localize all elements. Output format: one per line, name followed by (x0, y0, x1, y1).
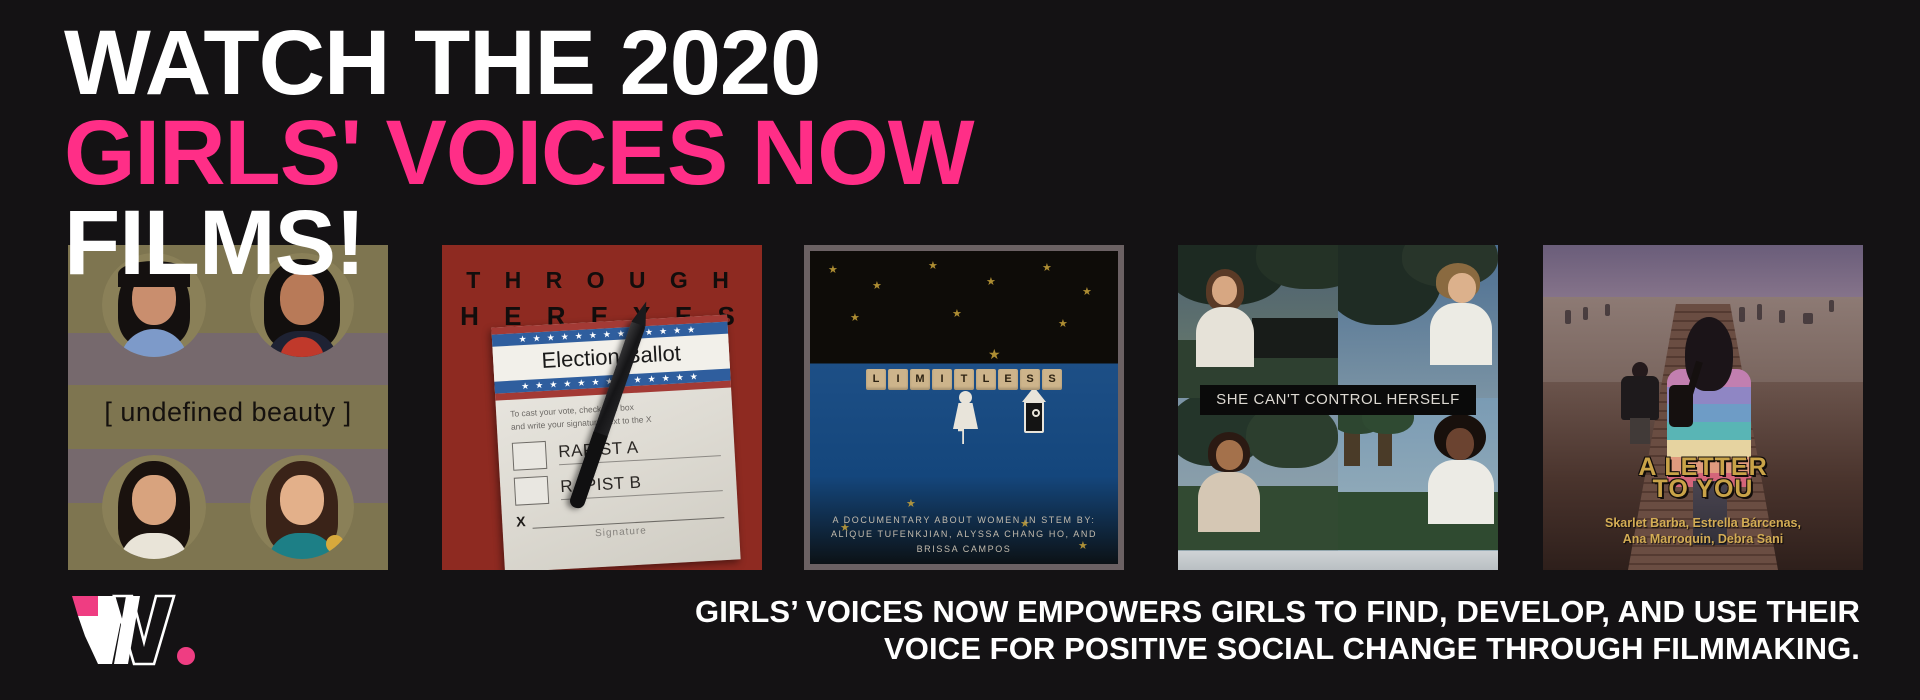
caption-line-1: A DOCUMENTARY ABOUT WOMEN IN STEM BY: (810, 513, 1118, 527)
sky (1543, 245, 1863, 297)
footer: GIRLS’ VOICES NOW EMPOWERS GIRLS TO FIND… (0, 580, 1920, 700)
tagline: GIRLS’ VOICES NOW EMPOWERS GIRLS TO FIND… (280, 594, 1860, 667)
video-quadrant (1178, 398, 1338, 551)
paper-girl-figure (950, 391, 980, 443)
poster-artwork: SHE CAN'T CONTROL HERSELF (1178, 245, 1498, 570)
poster-limitless[interactable]: ★ ★ ★ ★ ★ ★ ★ ★ ★ ★ ★ ★ ★ ★ (804, 245, 1124, 570)
scrabble-tile: I (888, 369, 908, 390)
promo-banner: WATCH THE 2020 GIRLS' VOICES NOW FILMS! (0, 0, 1920, 700)
credits-line-1: Skarlet Barba, Estrella Bárcenas, (1543, 515, 1863, 531)
video-quadrant (1178, 245, 1338, 398)
poster-artwork: A LETTER TO YOU Skarlet Barba, Estrella … (1543, 245, 1863, 570)
credits-line-2: Ana Marroquin, Debra Sani (1543, 531, 1863, 547)
scrabble-tile: I (932, 369, 952, 390)
subtitle-text: SHE CAN'T CONTROL HERSELF (1216, 391, 1460, 408)
scrabble-tile: L (866, 369, 886, 390)
subtitle-band: SHE CAN'T CONTROL HERSELF (1200, 385, 1476, 415)
avatar (102, 455, 206, 559)
headline-line-1: WATCH THE 2020 (64, 18, 974, 108)
background-walker (1621, 362, 1659, 444)
caption-line-3: BRISSA CAMPOS (810, 542, 1118, 556)
vn-monogram-icon (68, 590, 218, 670)
poster-inner: ★ ★ ★ ★ ★ ★ ★ ★ ★ ★ ★ ★ ★ ★ (810, 251, 1118, 564)
avatar (250, 455, 354, 559)
ballot-checkbox[interactable] (514, 475, 550, 505)
poster-title: A LETTER TO YOU (1543, 453, 1863, 504)
scrabble-tile: M (910, 369, 930, 390)
shoulder-bag (1669, 385, 1693, 427)
video-quadrant (1338, 245, 1498, 398)
caption-line-2: ALIQUE TUFENKJIAN, ALYSSA CHANG HO, AND (810, 527, 1118, 541)
video-quadrant (1338, 398, 1498, 551)
headline-line-2: GIRLS' VOICES NOW (64, 108, 974, 198)
scrabble-tile: L (976, 369, 996, 390)
poster-artwork: ★ ★ ★ ★ ★ ★ ★ ★ ★ ★ ★ ★ ★ ★ (804, 245, 1124, 570)
scrabble-title-tiles: LIMITLESS (810, 369, 1118, 390)
rocket-icon (1022, 387, 1046, 433)
poster-she-cant-control-herself[interactable]: SHE CAN'T CONTROL HERSELF (1178, 245, 1498, 570)
signature-mark: X (516, 513, 526, 529)
girls-voices-now-logo[interactable] (68, 590, 218, 670)
headline: WATCH THE 2020 GIRLS' VOICES NOW FILMS! (64, 18, 974, 288)
headline-line-3: FILMS! (64, 198, 974, 288)
poster-title: [ undefined beauty ] (68, 397, 388, 428)
election-ballot: ★★★★★★★★★★★★★ Election Ballot ★★★★★★★★★★… (491, 315, 740, 570)
tagline-line-1: GIRLS’ VOICES NOW EMPOWERS GIRLS TO FIND… (280, 594, 1860, 631)
tagline-line-2: VOICE FOR POSITIVE SOCIAL CHANGE THROUGH… (280, 631, 1860, 668)
scrabble-tile: T (954, 369, 974, 390)
ballot-checkbox[interactable] (512, 440, 548, 470)
scrabble-tile: E (998, 369, 1018, 390)
poster-caption: A DOCUMENTARY ABOUT WOMEN IN STEM BY: AL… (810, 513, 1118, 556)
poster-credits: Skarlet Barba, Estrella Bárcenas, Ana Ma… (1543, 515, 1863, 547)
poster-title-line-2: TO YOU (1543, 475, 1863, 504)
poster-row: [ undefined beauty ] (0, 245, 1920, 575)
scrabble-tile: S (1042, 369, 1062, 390)
poster-footer-strip (1178, 551, 1498, 571)
poster-through-her-eyes[interactable]: T H R O U G H H E R E Y E S ★★★★★★★★★★★★… (442, 245, 762, 570)
poster-artwork: T H R O U G H H E R E Y E S ★★★★★★★★★★★★… (442, 245, 762, 570)
poster-a-letter-to-you[interactable]: A LETTER TO YOU Skarlet Barba, Estrella … (1543, 245, 1863, 570)
scrabble-tile: S (1020, 369, 1040, 390)
